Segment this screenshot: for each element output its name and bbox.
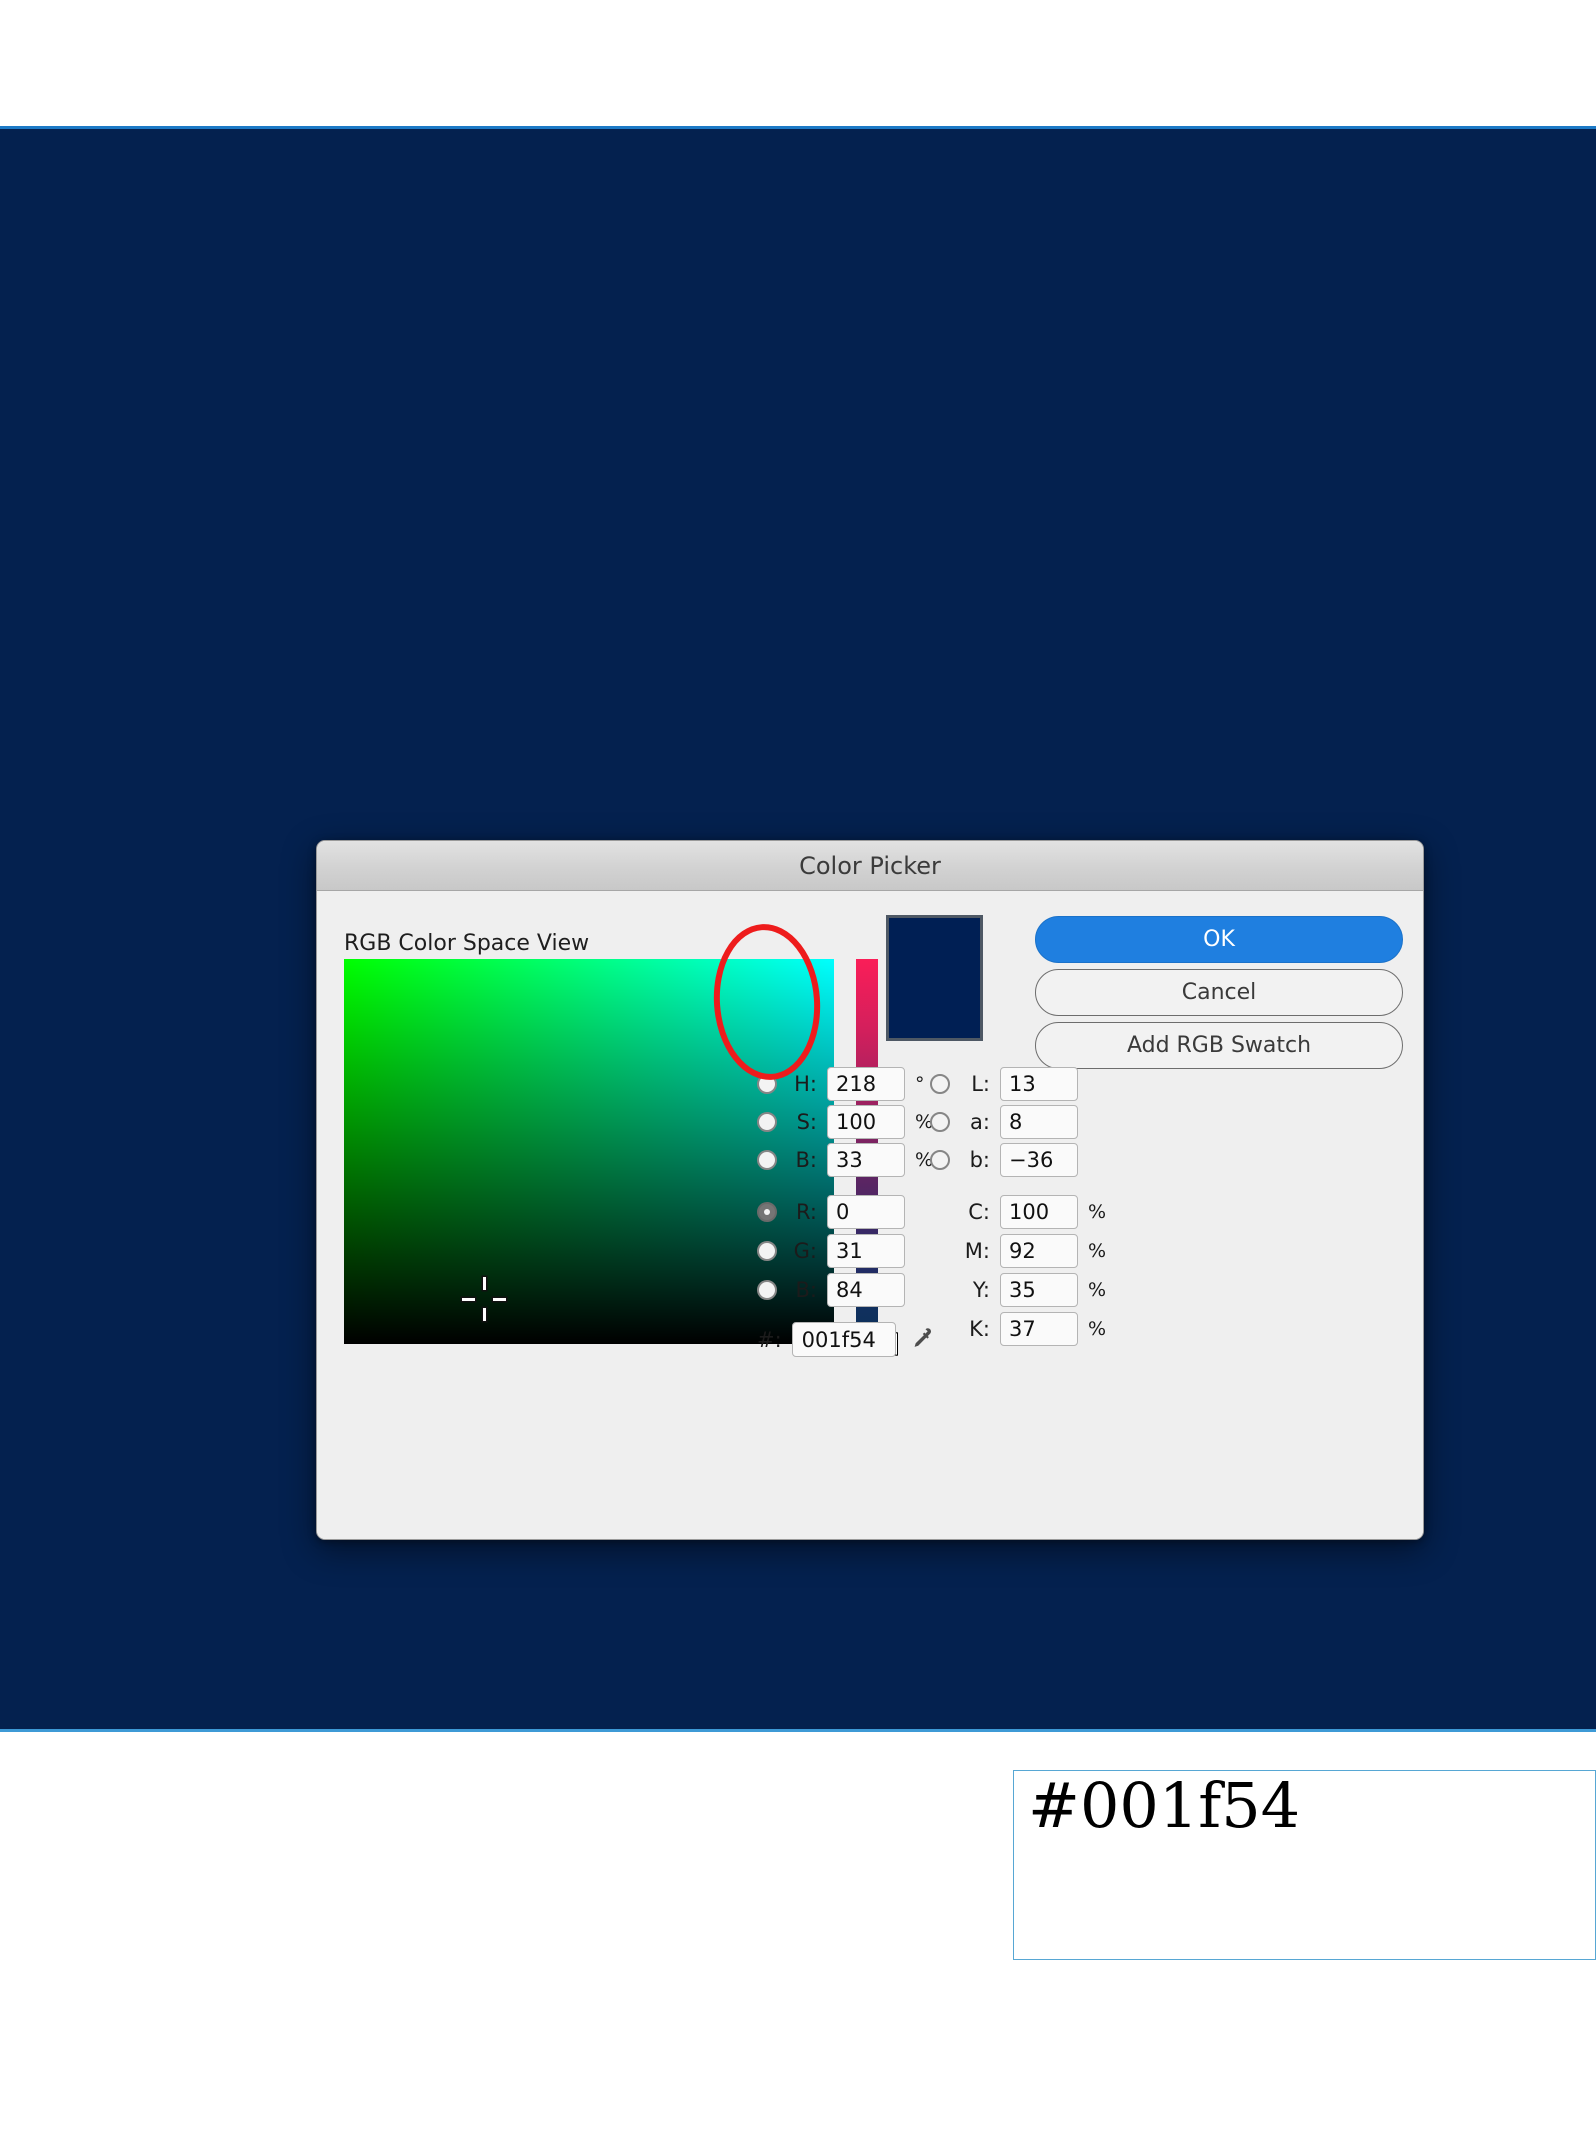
- eyedropper-icon[interactable]: [908, 1327, 934, 1353]
- label-hue: H:: [787, 1072, 817, 1096]
- radio-lab-l[interactable]: [930, 1074, 950, 1094]
- hex-note-textbox[interactable]: #001f54: [1013, 1770, 1596, 1960]
- label-black: K:: [960, 1317, 990, 1341]
- dialog-body: RGB Color Space View OK Cancel Add RGB S…: [317, 891, 1423, 1540]
- radio-blue[interactable]: [757, 1280, 777, 1300]
- radio-saturation[interactable]: [757, 1112, 777, 1132]
- hex-note-text: #001f54: [1014, 1771, 1595, 1838]
- field-row-red: R: 0: [757, 1195, 905, 1229]
- field-row-blue: B: 84: [757, 1273, 905, 1307]
- radio-spacer-magenta: [930, 1241, 950, 1261]
- input-saturation[interactable]: 100: [827, 1105, 905, 1139]
- input-green[interactable]: 31: [827, 1234, 905, 1268]
- field-row-lab-l: L: 13: [930, 1067, 1078, 1101]
- cancel-button[interactable]: Cancel: [1035, 969, 1403, 1016]
- dialog-titlebar: Color Picker: [317, 841, 1423, 891]
- label-red: R:: [787, 1200, 817, 1224]
- radio-spacer-yellow: [930, 1280, 950, 1300]
- field-row-saturation: S: 100 %: [757, 1105, 933, 1139]
- input-red[interactable]: 0: [827, 1195, 905, 1229]
- label-lab-b: b:: [960, 1148, 990, 1172]
- field-row-lab-b: b: −36: [930, 1143, 1078, 1177]
- unit-magenta: %: [1088, 1240, 1106, 1262]
- radio-lab-b[interactable]: [930, 1150, 950, 1170]
- field-row-yellow: Y: 35 %: [930, 1273, 1106, 1307]
- input-yellow[interactable]: 35: [1000, 1273, 1078, 1307]
- field-row-black: K: 37 %: [930, 1312, 1106, 1346]
- color-picker-dialog: Color Picker RGB Color Space View OK: [316, 840, 1424, 1540]
- dialog-title: Color Picker: [799, 852, 941, 880]
- field-row-cyan: C: 100 %: [930, 1195, 1106, 1229]
- field-row-green: G: 31: [757, 1234, 905, 1268]
- input-lab-b[interactable]: −36: [1000, 1143, 1078, 1177]
- input-blue[interactable]: 84: [827, 1273, 905, 1307]
- selected-color-preview: [886, 915, 983, 1041]
- label-yellow: Y:: [960, 1278, 990, 1302]
- input-brightness[interactable]: 33: [827, 1143, 905, 1177]
- label-cyan: C:: [960, 1200, 990, 1224]
- label-saturation: S:: [787, 1110, 817, 1134]
- input-hue[interactable]: 218: [827, 1067, 905, 1101]
- field-row-brightness: B: 33 %: [757, 1143, 933, 1177]
- ok-button[interactable]: OK: [1035, 916, 1403, 963]
- radio-brightness[interactable]: [757, 1150, 777, 1170]
- input-cyan[interactable]: 100: [1000, 1195, 1078, 1229]
- radio-lab-a[interactable]: [930, 1112, 950, 1132]
- radio-spacer-cyan: [930, 1202, 950, 1222]
- hex-field-row: #: 001f54: [757, 1322, 934, 1357]
- label-blue: B:: [787, 1278, 817, 1302]
- radio-red[interactable]: [757, 1202, 777, 1222]
- input-magenta[interactable]: 92: [1000, 1234, 1078, 1268]
- label-lab-a: a:: [960, 1110, 990, 1134]
- label-lab-l: L:: [960, 1072, 990, 1096]
- label-magenta: M:: [960, 1239, 990, 1263]
- unit-cyan: %: [1088, 1201, 1106, 1223]
- input-lab-l[interactable]: 13: [1000, 1067, 1078, 1101]
- color-space-view-label: RGB Color Space View: [344, 931, 589, 956]
- input-black[interactable]: 37: [1000, 1312, 1078, 1346]
- page-canvas: Color Picker RGB Color Space View OK: [0, 0, 1596, 2150]
- input-lab-a[interactable]: 8: [1000, 1105, 1078, 1139]
- add-rgb-swatch-button[interactable]: Add RGB Swatch: [1035, 1022, 1403, 1069]
- field-row-hue: H: 218 °: [757, 1067, 925, 1101]
- radio-green[interactable]: [757, 1241, 777, 1261]
- unit-hue: °: [915, 1073, 925, 1095]
- input-hex[interactable]: 001f54: [792, 1322, 896, 1357]
- dialog-button-group: OK Cancel Add RGB Swatch: [1035, 916, 1403, 1075]
- field-row-lab-a: a: 8: [930, 1105, 1078, 1139]
- unit-black: %: [1088, 1318, 1106, 1340]
- radio-hue[interactable]: [757, 1074, 777, 1094]
- color-crosshair-marker: [462, 1277, 506, 1321]
- label-green: G:: [787, 1239, 817, 1263]
- unit-yellow: %: [1088, 1279, 1106, 1301]
- label-brightness: B:: [787, 1148, 817, 1172]
- field-row-magenta: M: 92 %: [930, 1234, 1106, 1268]
- label-hex: #:: [757, 1328, 782, 1352]
